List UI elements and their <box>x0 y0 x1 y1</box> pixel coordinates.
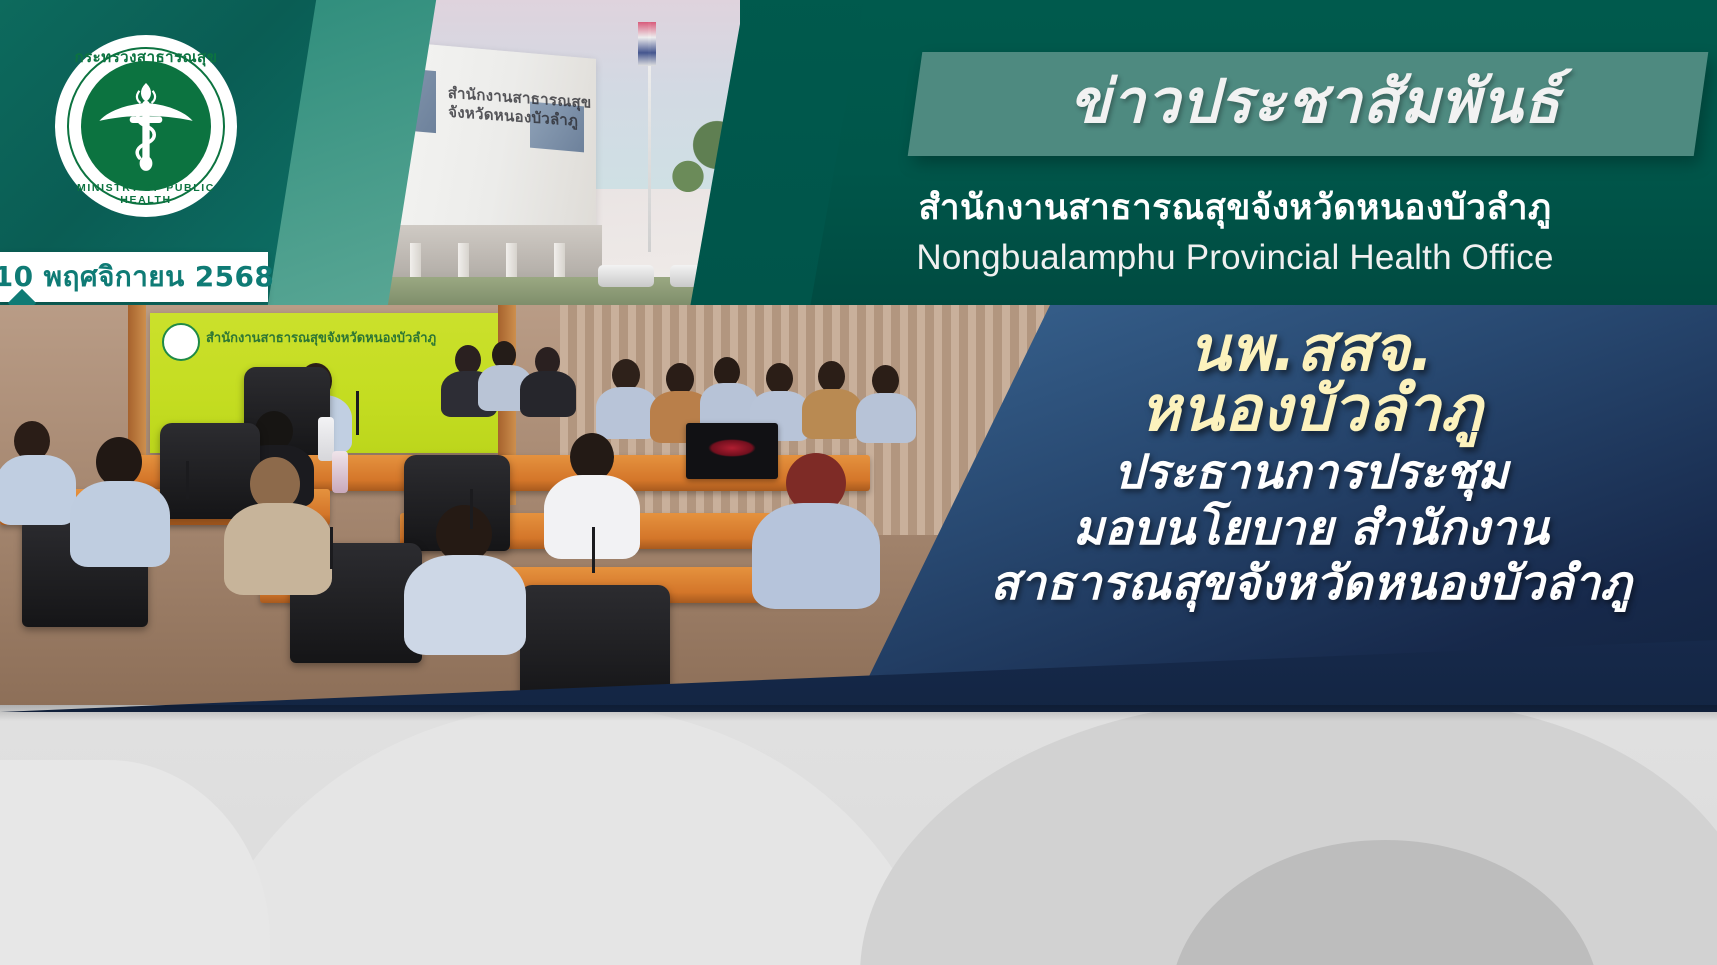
microphone <box>470 489 473 529</box>
office-name-english: Nongbualamphu Provincial Health Office <box>760 238 1710 278</box>
water-bottle <box>332 451 348 493</box>
attendee-body <box>802 389 862 439</box>
headline-block: นพ.สสจ. หนองบัวลำภู ประธานการประชุม มอบน… <box>905 318 1717 611</box>
logo-thai-text: กระทรวงสาธารณสุข <box>58 45 234 69</box>
attendee-head <box>766 363 793 394</box>
headline-line-3: ประธานการประชุม <box>905 445 1717 500</box>
date-badge: 10 พฤศจิกายน 2568 <box>0 252 268 302</box>
attendee-body <box>404 555 526 655</box>
microphone <box>330 527 333 569</box>
attendee-head <box>872 365 899 396</box>
microphone <box>186 461 189 499</box>
projector-screen-logo <box>162 323 200 361</box>
attendee-body <box>752 503 880 609</box>
attendee-head <box>570 433 614 481</box>
thai-flag <box>638 22 656 66</box>
ministry-logo: กระทรวงสาธารณสุข MINISTRY OF PUBLIC HEAL… <box>58 38 234 214</box>
office-name-thai: สำนักงานสาธารณสุขจังหวัดหนองบัวลำภู <box>760 180 1710 235</box>
headline-line-4: มอบนโยบาย สำนักงาน <box>905 501 1717 556</box>
headline-line-1: นพ.สสจ. <box>905 318 1717 380</box>
projector-screen-text: สำนักงานสาธารณสุขจังหวัดหนองบัวลำภู <box>206 327 436 348</box>
office-chair <box>160 423 260 519</box>
caduceus-icon <box>91 71 201 181</box>
headline-line-5: สาธารณสุขจังหวัดหนองบัวลำภู <box>905 556 1717 611</box>
laptop <box>686 423 778 479</box>
attendee-body <box>224 503 332 595</box>
palm-tree <box>666 150 710 216</box>
headline-line-2: หนองบัวลำภู <box>905 376 1717 441</box>
logo-english-text: MINISTRY OF PUBLIC HEALTH <box>58 182 234 206</box>
microphone <box>356 391 359 435</box>
banner-title: ข่าวประชาสัมพันธ์ <box>930 46 1700 156</box>
header-strip: สำนักงานสาธารณสุข จังหวัดหนองบัวลำภู ข่า <box>0 0 1717 305</box>
date-text: 10 พฤศจิกายน 2568 <box>0 255 274 299</box>
attendee-head <box>818 361 845 392</box>
parked-car <box>598 265 654 287</box>
attendee-body <box>520 371 576 417</box>
attendee-body <box>70 481 170 567</box>
attendee-body <box>596 387 658 439</box>
attendee-head <box>96 437 142 487</box>
poster-bottom-shadow <box>0 705 1717 721</box>
attendee-body <box>0 455 76 525</box>
microphone <box>592 527 595 573</box>
news-poster: สำนักงานสาธารณสุข จังหวัดหนองบัวลำภู ข่า <box>0 0 1717 965</box>
